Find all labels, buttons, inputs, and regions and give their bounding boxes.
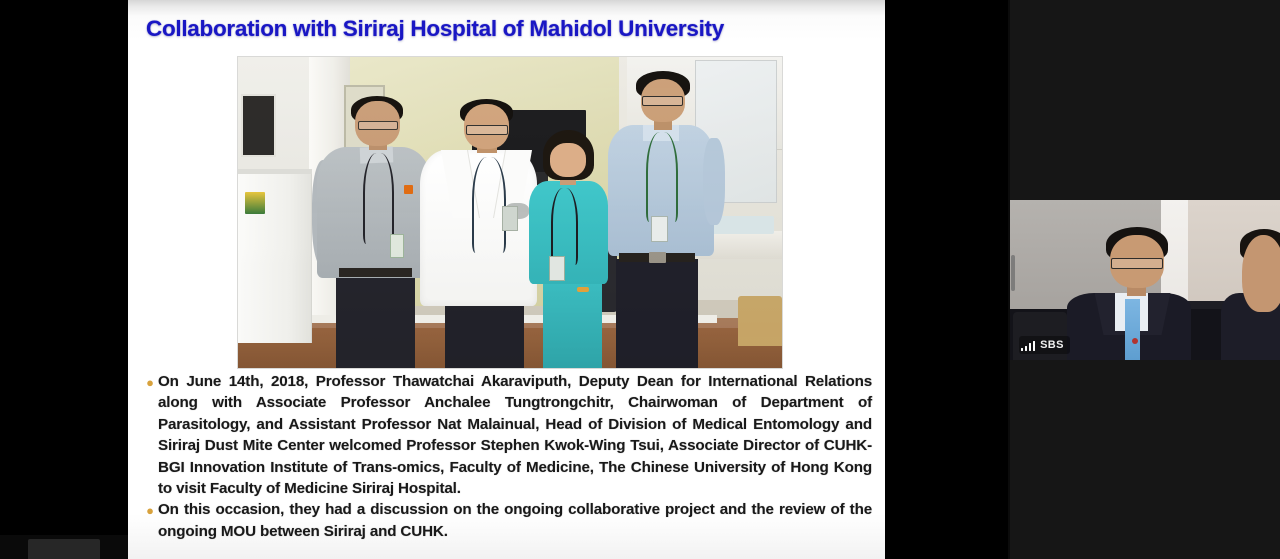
bullet-marker-icon: ● <box>142 371 158 393</box>
slide-bullet-list: ● On June 14th, 2018, Professor Thawatch… <box>142 371 872 542</box>
bullet-marker-icon: ● <box>142 499 158 521</box>
slide-photo <box>238 57 782 368</box>
bottom-toolbar-sliver <box>0 535 128 559</box>
participant-name-badge: SBS <box>1019 336 1070 354</box>
shared-screen-stage: Collaboration with Siriraj Hospital of M… <box>0 0 1010 559</box>
page-title: Collaboration with Siriraj Hospital of M… <box>146 16 866 42</box>
toolbar-button-group[interactable] <box>28 539 100 559</box>
bullet-text: On June 14th, 2018, Professor Thawatchai… <box>158 371 872 499</box>
panel-resize-handle[interactable] <box>1011 255 1015 291</box>
signal-bars-icon <box>1021 340 1035 351</box>
participant-name: SBS <box>1040 339 1064 351</box>
screen: Collaboration with Siriraj Hospital of M… <box>0 0 1280 559</box>
presentation-slide: Collaboration with Siriraj Hospital of M… <box>128 0 885 559</box>
list-item: ● On June 14th, 2018, Professor Thawatch… <box>142 371 872 499</box>
bullet-text: On this occasion, they had a discussion … <box>158 499 872 542</box>
list-item: ● On this occasion, they had a discussio… <box>142 499 872 542</box>
